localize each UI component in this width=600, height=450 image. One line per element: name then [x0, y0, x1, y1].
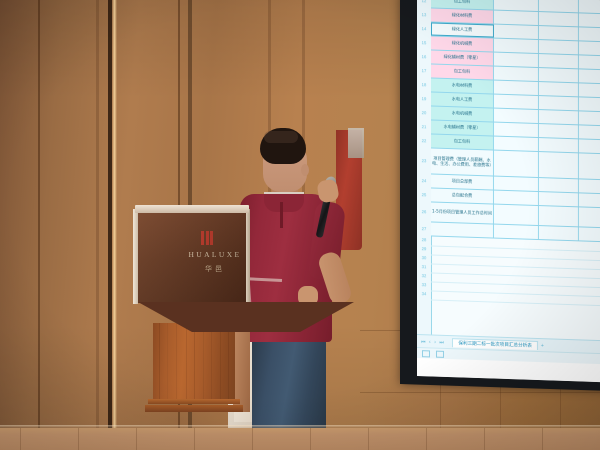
- cell-label[interactable]: 绿化材料费: [431, 8, 494, 23]
- spreadsheet[interactable]: 1213141516171819202122232425262728293031…: [417, 0, 600, 341]
- row-number[interactable]: 21: [417, 125, 431, 130]
- cell-value-c[interactable]: [579, 139, 600, 153]
- podium-front-panel: HUALUXE 华邑: [138, 211, 246, 303]
- wood-grain-line: [220, 323, 221, 401]
- cell-value-a[interactable]: [494, 123, 539, 137]
- presenter-ear: [301, 164, 309, 176]
- row-number[interactable]: 25: [417, 193, 431, 198]
- cell-value-b[interactable]: [539, 138, 579, 152]
- cell-value-a[interactable]: [494, 225, 539, 239]
- presenter-placket: [280, 202, 283, 228]
- cell-value-a[interactable]: [494, 205, 539, 225]
- row-number[interactable]: 19: [417, 97, 431, 102]
- cell-value-a[interactable]: [494, 177, 539, 191]
- row-number[interactable]: 16: [417, 55, 431, 60]
- cell-value-a[interactable]: [494, 67, 539, 81]
- cell-label[interactable]: 绿化辅材费（零星）: [431, 50, 494, 65]
- cell-label[interactable]: 包工包料: [431, 134, 494, 149]
- row-number[interactable]: 30: [417, 256, 431, 261]
- row-header-column: 1213141516171819202122232425262728293031…: [417, 0, 432, 334]
- stage-floor: [0, 428, 600, 450]
- cell-value-c[interactable]: [579, 227, 600, 241]
- row-number[interactable]: 14: [417, 27, 431, 32]
- row-number[interactable]: 13: [417, 13, 431, 18]
- floor-tile-line: [78, 428, 79, 450]
- cell-label[interactable]: 绿化机械费: [431, 36, 494, 51]
- cell-label[interactable]: 水电材料费: [431, 78, 494, 93]
- row-number[interactable]: 23: [417, 159, 431, 164]
- row-number[interactable]: 17: [417, 69, 431, 74]
- row-number[interactable]: 31: [417, 265, 431, 270]
- cell-value-a[interactable]: [494, 25, 539, 39]
- cell-value-a[interactable]: [494, 53, 539, 67]
- row-number[interactable]: 32: [417, 274, 431, 279]
- screenshot-root: 1213141516171819202122232425262728293031…: [0, 0, 600, 450]
- sheet-nav-prev-button[interactable]: ‹: [429, 339, 431, 345]
- podium-base-lower: [145, 405, 243, 412]
- cell-value-c[interactable]: [579, 207, 600, 227]
- floor-tile-line: [194, 428, 195, 450]
- row-number[interactable]: 29: [417, 247, 431, 252]
- podium-brand-name: HUALUXE: [168, 250, 262, 259]
- floor-tile-line: [368, 428, 369, 450]
- cell-value-a[interactable]: [494, 137, 539, 151]
- wood-grain-line: [211, 323, 212, 401]
- cell-label[interactable]: [431, 222, 494, 237]
- cell-label[interactable]: 总包配合费: [431, 188, 494, 203]
- cell-value-b[interactable]: [539, 226, 579, 240]
- floor-tile-line: [310, 428, 311, 450]
- floor-tile-line: [252, 428, 253, 450]
- presenter-hair: [260, 128, 306, 164]
- cell-value-b[interactable]: [539, 96, 579, 110]
- cell-value-c[interactable]: [579, 41, 600, 55]
- cell-value-a[interactable]: [494, 39, 539, 53]
- wall-seam: [96, 0, 99, 450]
- projection-screen[interactable]: 1213141516171819202122232425262728293031…: [417, 0, 600, 383]
- wall-seam: [38, 0, 40, 450]
- wood-grain-line: [167, 323, 168, 401]
- cell-label[interactable]: 项目管理费（管理人员薪酬、水电、生活、办公费用、差旅费等）: [431, 148, 494, 175]
- cell-value-c[interactable]: [579, 111, 600, 125]
- floor-tile-line: [542, 428, 543, 450]
- row-number[interactable]: 20: [417, 111, 431, 116]
- cell-value-b[interactable]: [539, 82, 579, 96]
- cell-value-c[interactable]: [579, 69, 600, 83]
- cell-value-a[interactable]: [494, 151, 539, 177]
- wood-grain-line: [194, 323, 195, 401]
- sheet-nav-buttons[interactable]: ⏮ ‹ › ⏭: [417, 339, 448, 346]
- cell-value-b[interactable]: [539, 12, 579, 26]
- cell-label[interactable]: 水电机械费: [431, 106, 494, 121]
- row-number[interactable]: 15: [417, 41, 431, 46]
- cell-value-b[interactable]: [539, 40, 579, 54]
- podium-base-upper: [148, 399, 240, 404]
- sheet-nav-first-button[interactable]: ⏮: [421, 339, 426, 345]
- hualuxe-logo-icon: [201, 231, 213, 245]
- cell-value-a[interactable]: [494, 95, 539, 109]
- cell-value-a[interactable]: [494, 109, 539, 123]
- floor-tile-line: [426, 428, 427, 450]
- cell-value-b[interactable]: [539, 206, 579, 226]
- cell-value-c[interactable]: [579, 193, 600, 207]
- podium-wood-body: [153, 323, 235, 401]
- wood-grain-line: [176, 323, 177, 401]
- row-number[interactable]: 24: [417, 179, 431, 184]
- cell-value-c[interactable]: [579, 13, 600, 27]
- row-number[interactable]: 33: [417, 283, 431, 288]
- cell-label[interactable]: 包工包料: [431, 64, 494, 79]
- cell-label[interactable]: 1-5月份项目管理人员工作总时间: [431, 202, 494, 223]
- presenter-collar: [264, 192, 304, 212]
- sheet-nav-next-button[interactable]: ›: [434, 339, 436, 345]
- row-number[interactable]: 22: [417, 139, 431, 144]
- row-number[interactable]: 26: [417, 210, 431, 215]
- cell-value-a[interactable]: [494, 81, 539, 95]
- cell-value-c[interactable]: [579, 0, 600, 14]
- wood-grain-line: [186, 323, 187, 401]
- row-number[interactable]: 18: [417, 83, 431, 88]
- cell-label[interactable]: 绿化人工费: [431, 22, 494, 37]
- podium: HUALUXE 华邑: [115, 205, 267, 420]
- podium-top-surface: [135, 205, 249, 213]
- cell-label[interactable]: 水电人工费: [431, 92, 494, 107]
- cell-value-c[interactable]: [579, 125, 600, 139]
- sheet-nav-last-button[interactable]: ⏭: [439, 339, 444, 345]
- cell-value-b[interactable]: [539, 68, 579, 82]
- cell-value-b[interactable]: [539, 0, 579, 12]
- floor-tile-line: [20, 428, 21, 450]
- cell-value-c[interactable]: [579, 83, 600, 97]
- cell-value-b[interactable]: [539, 178, 579, 192]
- wood-grain-line: [228, 323, 229, 401]
- cell-value-b[interactable]: [539, 54, 579, 68]
- cell-value-c[interactable]: [579, 27, 600, 41]
- cell-value-a[interactable]: [494, 0, 539, 11]
- row-number[interactable]: 28: [417, 238, 431, 243]
- wood-grain-line: [159, 323, 160, 401]
- cell-value-a[interactable]: [494, 191, 539, 205]
- podium-brand-name-cn: 华邑: [168, 264, 262, 274]
- row-number[interactable]: 27: [417, 227, 431, 232]
- cell-value-b[interactable]: [539, 152, 579, 178]
- wood-grain-line: [203, 323, 204, 401]
- podium-front-point: [138, 302, 354, 332]
- view-normal-icon[interactable]: [422, 350, 430, 357]
- cell-value-c[interactable]: [579, 179, 600, 193]
- cell-value-b[interactable]: [539, 110, 579, 124]
- row-number[interactable]: 12: [417, 0, 431, 3]
- view-layout-icon[interactable]: [436, 351, 444, 358]
- floor-tile-line: [136, 428, 137, 450]
- cell-value-b[interactable]: [539, 124, 579, 138]
- wall-joint: [360, 392, 600, 393]
- cell-value-c[interactable]: [579, 153, 600, 179]
- cell-value-b[interactable]: [539, 192, 579, 206]
- add-sheet-button[interactable]: +: [541, 343, 544, 349]
- cell-value-c[interactable]: [579, 55, 600, 69]
- cell-value-b[interactable]: [539, 26, 579, 40]
- cell-label[interactable]: 水电辅材费（零星）: [431, 120, 494, 135]
- cell-value-c[interactable]: [579, 97, 600, 111]
- cell-label[interactable]: 项目总部费: [431, 174, 494, 189]
- floor-tile-line: [484, 428, 485, 450]
- row-number[interactable]: 34: [417, 292, 431, 297]
- cell-value-a[interactable]: [494, 11, 539, 25]
